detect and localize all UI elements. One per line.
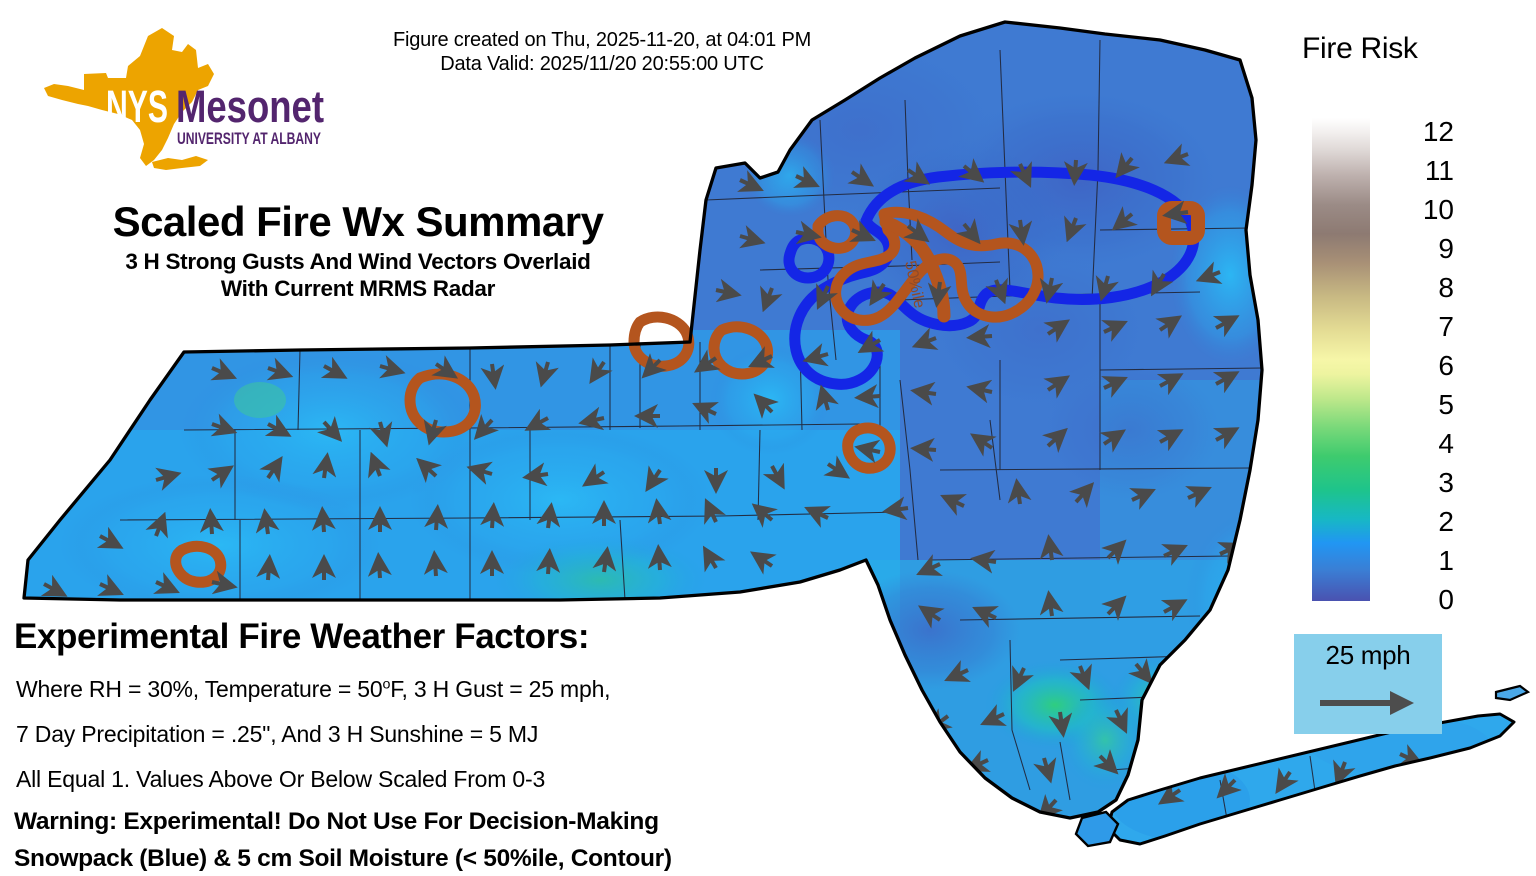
logo-tagline: UNIVERSITY AT ALBANY — [177, 129, 321, 148]
colorbar-tick-0: 0 — [1404, 586, 1454, 614]
factor-line-1: Where RH = 30%, Temperature = 50oF, 3 H … — [16, 676, 610, 702]
figure-timestamps: Figure created on Thu, 2025-11-20, at 04… — [352, 28, 852, 76]
colorbar-tick-10: 10 — [1404, 196, 1454, 224]
colorbar-tick-9: 9 — [1404, 235, 1454, 263]
factor-line-1-post: F, 3 H Gust = 25 mph, — [390, 676, 610, 702]
colorbar-tick-2: 2 — [1404, 508, 1454, 536]
colorbar-title: Fire Risk — [1302, 32, 1418, 66]
data-valid-line: Data Valid: 2025/11/20 20:55:00 UTC — [352, 52, 852, 76]
fire-risk-colorbar — [1312, 118, 1370, 601]
wind-legend-label: 25 mph — [1294, 640, 1442, 671]
figure-created-line: Figure created on Thu, 2025-11-20, at 04… — [352, 28, 852, 52]
factor-line-1-pre: Where RH = 30%, Temperature = 50 — [16, 676, 382, 702]
colorbar-tick-7: 7 — [1404, 313, 1454, 341]
colorbar-tick-1: 1 — [1404, 547, 1454, 575]
colorbar-tick-4: 4 — [1404, 430, 1454, 458]
colorbar-tick-3: 3 — [1404, 469, 1454, 497]
logo-mesonet-text: Mesonet — [176, 81, 324, 132]
subtitle-line-1: 3 H Strong Gusts And Wind Vectors Overla… — [28, 248, 688, 275]
nys-mesonet-logo: NYS Mesonet UNIVERSITY AT ALBANY — [22, 16, 382, 176]
factors-heading: Experimental Fire Weather Factors: — [14, 617, 589, 657]
colorbar-tick-11: 11 — [1404, 157, 1454, 185]
wind-arrow-icon — [1318, 688, 1418, 723]
colorbar-tick-6: 6 — [1404, 352, 1454, 380]
title-block: Scaled Fire Wx Summary 3 H Strong Gusts … — [28, 196, 688, 302]
factor-line-3: All Equal 1. Values Above Or Below Scale… — [16, 766, 545, 792]
wind-speed-legend: 25 mph — [1294, 634, 1442, 734]
page-title: Scaled Fire Wx Summary — [28, 196, 688, 248]
warning-line-1: Warning: Experimental! Do Not Use For De… — [14, 808, 659, 836]
warning-line-2: Snowpack (Blue) & 5 cm Soil Moisture (< … — [14, 845, 672, 873]
colorbar-tick-12: 12 — [1404, 118, 1454, 146]
colorbar-tick-8: 8 — [1404, 274, 1454, 302]
logo-nys-text: NYS — [106, 81, 168, 132]
subtitle-line-2: With Current MRMS Radar — [28, 275, 688, 302]
factor-line-2: 7 Day Precipitation = .25", And 3 H Suns… — [16, 721, 538, 747]
colorbar-tick-5: 5 — [1404, 391, 1454, 419]
